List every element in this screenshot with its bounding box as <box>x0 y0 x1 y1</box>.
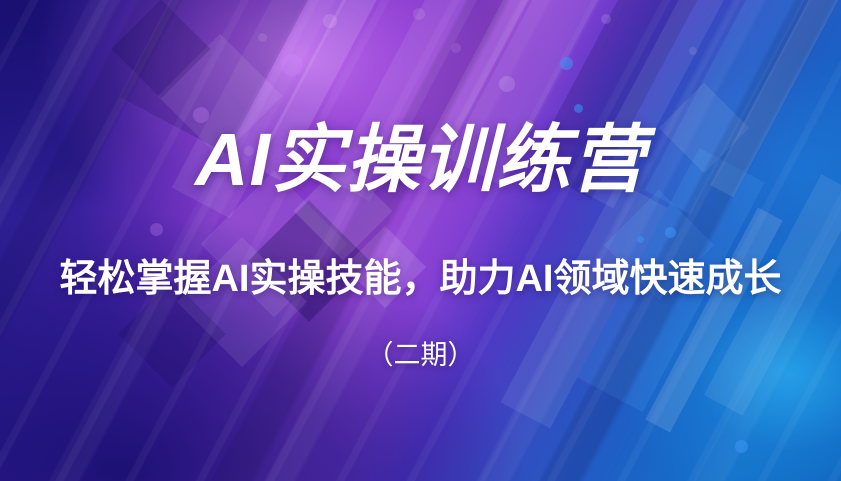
banner-subtitle: 轻松掌握AI实操技能，助力AI领域快速成长 <box>0 259 841 301</box>
banner-title: AI实操训练营 <box>0 123 841 197</box>
banner-content: AI实操训练营 轻松掌握AI实操技能，助力AI领域快速成长 （二期） <box>0 0 841 481</box>
banner-edition-label: （二期） <box>0 339 841 371</box>
course-banner: AI实操训练营 轻松掌握AI实操技能，助力AI领域快速成长 （二期） <box>0 0 841 481</box>
